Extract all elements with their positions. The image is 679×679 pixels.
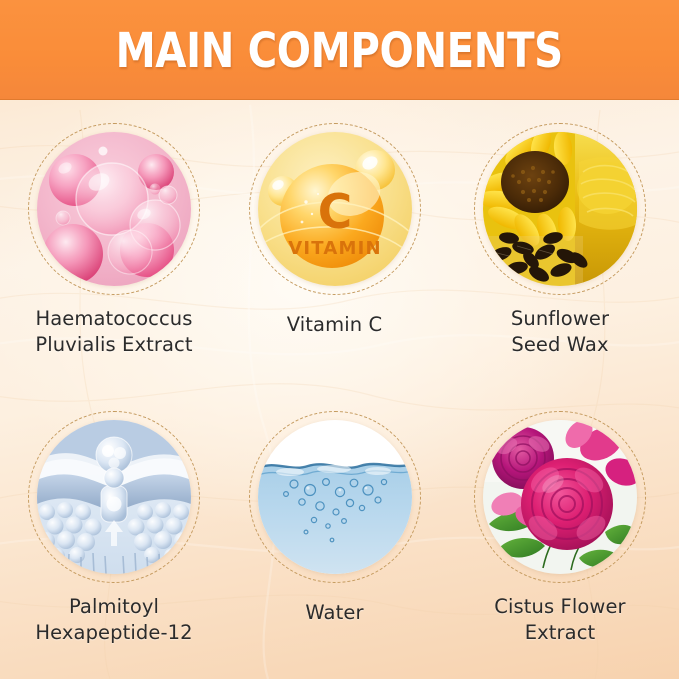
page-title: MAIN COMPONENTS — [116, 25, 563, 75]
component-card-water[interactable]: Water — [228, 387, 441, 677]
component-card-cistus-flower-extract[interactable]: Cistus Flower Extract — [441, 387, 679, 677]
components-row-2: Palmitoyl Hexapeptide-12 — [0, 387, 679, 677]
main-components-poster: MAIN COMPONENTS — [0, 0, 679, 679]
component-label: Water — [305, 600, 363, 626]
component-label: Haematococcus Pluvialis Extract — [35, 306, 192, 357]
dashed-ring — [249, 123, 421, 295]
component-image-circle — [474, 123, 646, 295]
component-image-circle — [28, 411, 200, 583]
components-grid: Haematococcus Pluvialis Extract — [0, 99, 679, 679]
dashed-ring — [249, 411, 421, 583]
dashed-ring — [474, 411, 646, 583]
component-label: Vitamin C — [287, 312, 382, 338]
component-image-circle — [249, 411, 421, 583]
header-banner: MAIN COMPONENTS — [0, 0, 679, 99]
component-image-circle: C VITAMIN — [249, 123, 421, 295]
component-label: Palmitoyl Hexapeptide-12 — [35, 594, 192, 645]
component-card-sunflower-seed-wax[interactable]: Sunflower Seed Wax — [441, 99, 679, 389]
component-card-palmitoyl-hexapeptide-12[interactable]: Palmitoyl Hexapeptide-12 — [0, 387, 228, 677]
components-row-1: Haematococcus Pluvialis Extract — [0, 99, 679, 389]
component-card-haematococcus-pluvialis-extract[interactable]: Haematococcus Pluvialis Extract — [0, 99, 228, 389]
component-image-circle — [28, 123, 200, 295]
component-label: Cistus Flower Extract — [494, 594, 625, 645]
component-card-vitamin-c[interactable]: C VITAMIN Vitamin C — [228, 99, 441, 389]
component-label: Sunflower Seed Wax — [511, 306, 609, 357]
dashed-ring — [28, 123, 200, 295]
dashed-ring — [28, 411, 200, 583]
dashed-ring — [474, 123, 646, 295]
component-image-circle — [474, 411, 646, 583]
